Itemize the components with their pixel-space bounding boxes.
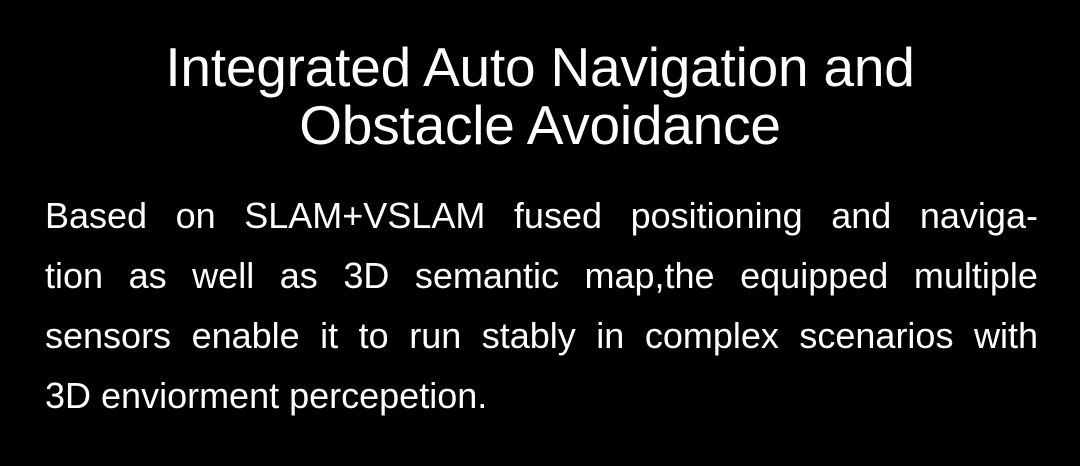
body-text-word: it [320, 306, 338, 366]
body-text-word: as [129, 246, 167, 306]
body-text-word: in [596, 306, 624, 366]
body-text-word: stably [482, 306, 576, 366]
body-text-word: SLAM+VSLAM [244, 186, 485, 246]
body-text-line-2: tionaswellas3Dsemanticmap,theequippedmul… [45, 246, 1038, 306]
body-text-word: naviga- [920, 186, 1038, 246]
body-text-word: equipped [740, 246, 888, 306]
body-text-word: enable [192, 306, 300, 366]
body-text-word: complex [645, 306, 779, 366]
body-text-word: as [280, 246, 318, 306]
body-text-word: fused [514, 186, 602, 246]
body-text-word: on [176, 186, 216, 246]
body-text-word: scenarios [799, 306, 953, 366]
body-text-word: map,the [585, 246, 715, 306]
body-text-word: with [974, 306, 1038, 366]
body-text-word: 3D [343, 246, 389, 306]
body-text-word: well [192, 246, 254, 306]
body-text-word: sensors [45, 306, 171, 366]
body-text-word: to [359, 306, 389, 366]
slide-title: Integrated Auto Navigation and Obstacle … [0, 0, 1080, 154]
slide-title-line-2: Obstacle Avoidance [0, 96, 1080, 154]
body-text-word: and [831, 186, 891, 246]
body-text-word: multiple [914, 246, 1038, 306]
body-text-line-1: BasedonSLAM+VSLAMfusedpositioningandnavi… [45, 186, 1038, 246]
body-text-line-4: 3D enviorment percepetion. [45, 366, 1038, 426]
body-text-line-3: sensorsenableittorunstablyincomplexscena… [45, 306, 1038, 366]
slide-title-line-1: Integrated Auto Navigation and [0, 38, 1080, 96]
body-text-word: semantic [415, 246, 559, 306]
presentation-slide: Integrated Auto Navigation and Obstacle … [0, 0, 1080, 466]
slide-body-text: BasedonSLAM+VSLAMfusedpositioningandnavi… [45, 186, 1038, 426]
body-text-word: Based [45, 186, 147, 246]
body-text-word: run [409, 306, 461, 366]
body-text-word: tion [45, 246, 103, 306]
body-text-word: positioning [631, 186, 803, 246]
